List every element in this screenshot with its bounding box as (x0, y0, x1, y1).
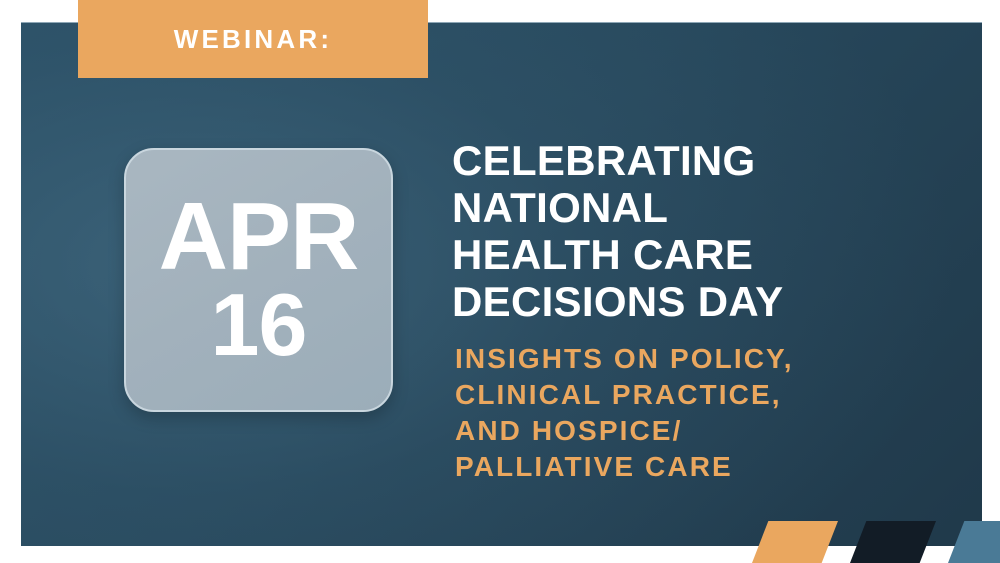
subhead-line-4: PALLIATIVE CARE (455, 449, 952, 485)
text-block: CELEBRATING NATIONAL HEALTH CARE DECISIO… (452, 137, 952, 485)
page-subtitle: INSIGHTS ON POLICY, CLINICAL PRACTICE, A… (455, 341, 952, 485)
subhead-line-2: CLINICAL PRACTICE, (455, 377, 952, 413)
chevron-blue (948, 521, 1000, 563)
page-title: CELEBRATING NATIONAL HEALTH CARE DECISIO… (452, 137, 952, 325)
headline-line-3: HEALTH CARE (452, 231, 952, 278)
subhead-line-1: INSIGHTS ON POLICY, (455, 341, 952, 377)
promo-graphic: WEBINAR: APR 16 CELEBRATING NATIONAL HEA… (0, 0, 1000, 563)
chevron-orange (752, 521, 838, 563)
date-card-month: APR (159, 193, 359, 281)
chevron-navy (850, 521, 936, 563)
headline-line-1: CELEBRATING (452, 137, 952, 184)
chevron-decoration (740, 521, 1000, 563)
headline-line-4: DECISIONS DAY (452, 278, 952, 325)
headline-line-2: NATIONAL (452, 184, 952, 231)
date-card: APR 16 (124, 148, 393, 412)
date-card-day: 16 (211, 283, 307, 367)
subhead-line-3: AND HOSPICE/ (455, 413, 952, 449)
webinar-badge: WEBINAR: (78, 0, 428, 78)
webinar-badge-label: WEBINAR: (174, 26, 332, 52)
